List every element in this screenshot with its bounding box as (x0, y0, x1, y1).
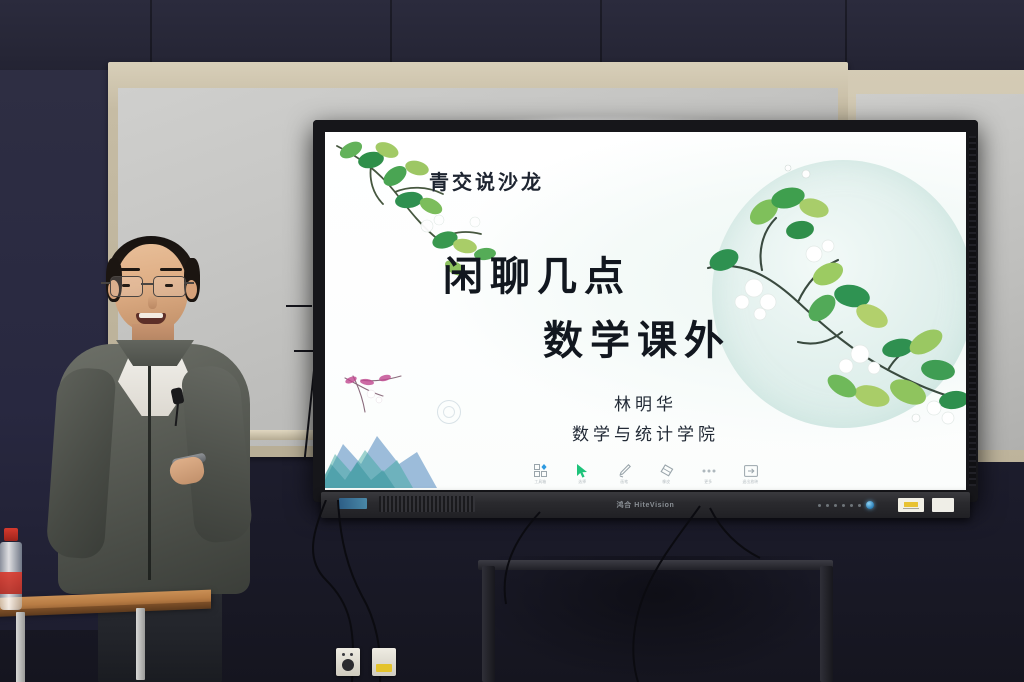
presenter-nose (148, 295, 157, 309)
table-leg-left (16, 612, 25, 682)
presenter-eyebrow (118, 268, 140, 271)
apps-grid-icon (534, 463, 547, 478)
sticker-text-line (903, 508, 919, 509)
slide-title-line-2: 数学课外 (543, 308, 731, 366)
eraser-icon (660, 463, 674, 478)
toolbar-label: 退出放映 (743, 479, 759, 485)
cursor-pointer-icon (576, 463, 589, 478)
toolbar-item-pen[interactable]: 画笔 (612, 463, 638, 485)
power-button-icon[interactable] (866, 501, 874, 509)
glasses-temple-left (101, 282, 111, 284)
toolbar-label: 工具箱 (535, 479, 547, 485)
outlet-yellow-marker (376, 664, 392, 672)
glasses-lens-left (110, 276, 143, 297)
slide-department-name: 数学与统计学院 (325, 420, 966, 445)
toolbar-label: 画笔 (621, 479, 629, 485)
wall-outlet-left[interactable] (336, 648, 360, 676)
glasses-icon (110, 276, 194, 296)
pen-icon (618, 463, 631, 478)
wall-outlet-right[interactable] (372, 648, 396, 676)
interactive-display[interactable]: 青交说沙龙 闲聊几点 数学课外 林明华 数学与统计学院 (313, 120, 978, 502)
slide-title-line-1: 闲聊几点 (443, 244, 631, 302)
presenter-teeth (139, 313, 163, 318)
more-dots-icon (702, 463, 716, 478)
presenter (52, 240, 252, 682)
toolbar-item-exit-slideshow[interactable]: 退出放映 (738, 463, 764, 485)
bottle-label (0, 572, 22, 594)
presenter-eye (165, 284, 173, 287)
presenter-eye (122, 284, 130, 287)
slideshow-exit-icon (744, 463, 758, 478)
bezel-warning-sticker (898, 498, 924, 512)
glasses-temple-right (184, 282, 194, 284)
toolbar-label: 橡皮 (663, 479, 671, 485)
slideshow-toolbar[interactable]: 工具箱 选择 (520, 460, 772, 488)
table-leg-right (136, 608, 145, 680)
toolbar-item-eraser[interactable]: 橡皮 (654, 463, 680, 485)
warning-label-icon (904, 502, 918, 507)
bezel-speaker-grille (969, 136, 976, 486)
presenter-smile (136, 313, 166, 324)
presentation-room-photo: 青交说沙龙 闲聊几点 数学课外 林明华 数学与统计学院 (0, 0, 1024, 682)
outlet-pin (342, 653, 345, 656)
whiteboard-hook (286, 305, 312, 307)
toolbar-item-select[interactable]: 选择 (570, 463, 596, 485)
slide-kicker-text: 青交说沙龙 (429, 166, 544, 195)
glasses-bridge (141, 283, 153, 285)
slide-author-name: 林明华 (325, 390, 966, 415)
presenter-jacket-zipper (148, 366, 151, 580)
toolbar-label: 更多 (705, 479, 713, 485)
outlet-socket (342, 659, 354, 671)
toolbar-item-toolbox[interactable]: 工具箱 (528, 463, 554, 485)
outlet-pin (350, 653, 353, 656)
presenter-eyebrow (160, 268, 182, 271)
stand-cable (560, 500, 860, 682)
toolbar-label: 选择 (579, 479, 587, 485)
glasses-lens-right (153, 276, 186, 297)
water-bottle[interactable] (0, 528, 22, 610)
display-screen[interactable]: 青交说沙龙 闲聊几点 数学课外 林明华 数学与统计学院 (325, 132, 966, 490)
bottle-cap (4, 528, 18, 541)
presentation-slide: 青交说沙龙 闲聊几点 数学课外 林明华 数学与统计学院 (325, 132, 966, 490)
toolbar-item-more[interactable]: 更多 (696, 463, 722, 485)
bezel-info-sticker (932, 498, 954, 512)
